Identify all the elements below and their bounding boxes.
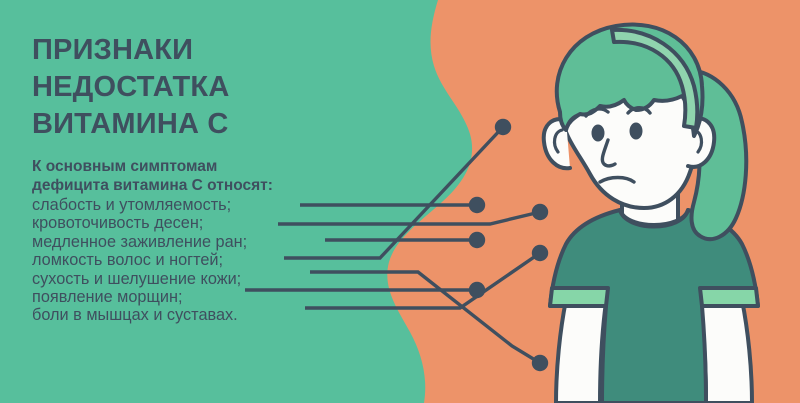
infographic-poster: ПРИЗНАКИ НЕДОСТАТКА ВИТАМИНА С К основны… (0, 0, 800, 403)
subtitle-line-1: К основным симптомам (32, 157, 382, 176)
subtitle-line-2: дефицита витамина С относят: (32, 176, 382, 195)
list-item: боли в мышцах и суставах. (32, 306, 372, 324)
character-right-sleeve-trim (700, 288, 758, 306)
subtitle: К основным симптомам дефицита витамина С… (32, 157, 382, 195)
list-item: ломкость волос и ногтей; (32, 251, 372, 269)
character-left-arm (556, 300, 606, 403)
page-title: ПРИЗНАКИ НЕДОСТАТКА ВИТАМИНА С (32, 32, 362, 143)
list-item: слабость и утомляемость; (32, 196, 372, 214)
symptom-list: слабость и утомляемость; кровоточивость … (32, 196, 372, 325)
list-item: медленное заживление ран; (32, 233, 372, 251)
character-left-eye (592, 125, 605, 142)
list-item: кровоточивость десен; (32, 214, 372, 232)
list-item: появление морщин; (32, 288, 372, 306)
page-title-line-2: НЕДОСТАТКА (32, 69, 362, 106)
list-item: сухость и шелушение кожи; (32, 270, 372, 288)
character-left-sleeve-trim (550, 288, 608, 306)
character-right-eye (630, 123, 643, 140)
page-title-line-3: ВИТАМИНА С (32, 106, 362, 143)
page-title-line-1: ПРИЗНАКИ (32, 32, 362, 69)
